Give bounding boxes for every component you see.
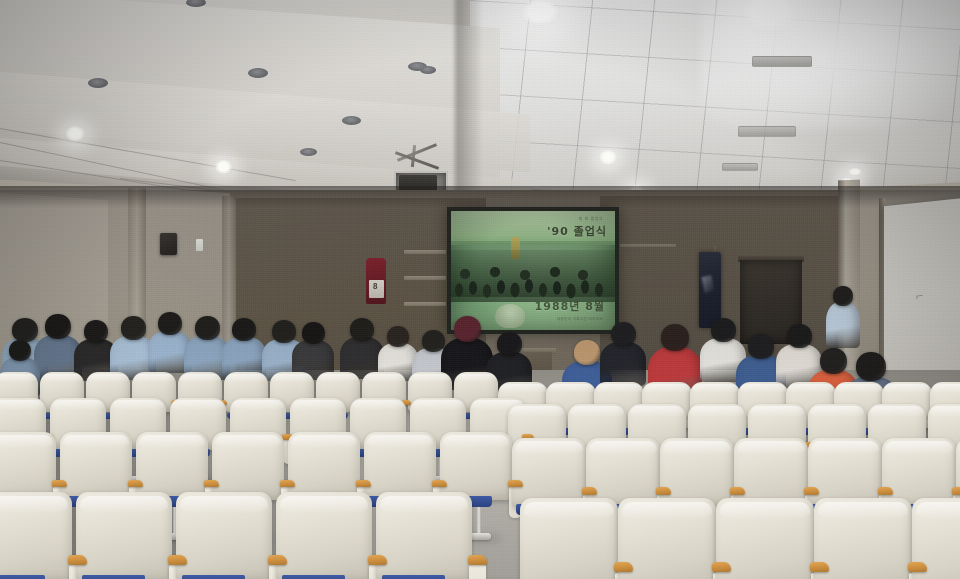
seat-back-highlight [811, 441, 879, 455]
ceiling-downlight-off [420, 66, 436, 74]
person-l2-head [45, 314, 71, 339]
person-c3-head [387, 326, 409, 347]
seat-back-highlight [548, 384, 594, 393]
wall-slot-trim [404, 276, 446, 280]
ceiling-tube-light [722, 163, 758, 171]
seat-back-highlight [367, 435, 433, 449]
seat-back-highlight [836, 384, 882, 393]
person-standing-torso [826, 302, 860, 348]
seat-back-highlight [930, 406, 960, 417]
seat-armrest[interactable] [508, 480, 523, 487]
seat-armrest[interactable] [432, 480, 447, 487]
auditorium-seat[interactable] [136, 432, 208, 500]
wall-slot-trim [404, 250, 446, 254]
ceiling-downlight-off [248, 68, 268, 78]
seat-back-highlight [215, 435, 281, 449]
seat-back-highlight [0, 400, 44, 410]
seat-back-highlight [0, 435, 53, 449]
seat-armrest[interactable] [952, 487, 960, 495]
seat-back-highlight [134, 374, 174, 382]
seat-armrest[interactable] [68, 555, 87, 565]
person-l7-head [232, 318, 256, 341]
seat-cushion[interactable] [0, 575, 45, 579]
seat-back-highlight [630, 406, 683, 417]
person-l3-head [84, 320, 108, 343]
seat-armrest[interactable] [268, 555, 287, 565]
person-r2-head [611, 322, 636, 346]
seat-back-highlight [352, 400, 404, 410]
seat-back-highlight [510, 406, 563, 417]
seat-back-highlight [663, 441, 731, 455]
exit-sign [196, 239, 203, 251]
person-standing-head [833, 286, 853, 306]
person-front-left-head [9, 340, 31, 361]
ceiling-downlight-off [342, 116, 361, 125]
person-c1-head [302, 322, 325, 344]
person-r2-torso [600, 342, 646, 386]
seat-back-highlight [180, 496, 268, 514]
person-r3-head [661, 324, 689, 351]
person-c6-head [497, 332, 522, 356]
seat-back-highlight [456, 374, 496, 382]
seat-armrest[interactable] [280, 480, 295, 487]
auditorium-seat[interactable] [276, 492, 372, 579]
auditorium-seat[interactable] [60, 432, 132, 500]
seat-back-highlight [139, 435, 205, 449]
auditorium-seat[interactable] [0, 492, 72, 579]
seat-back-highlight [232, 400, 284, 410]
seat-back-highlight [692, 384, 738, 393]
seat-back-highlight [870, 406, 923, 417]
person-r4-head [711, 318, 736, 342]
wall-slot-trim [620, 244, 676, 247]
seat-back-highlight [443, 435, 509, 449]
ceiling-downlight-on [598, 150, 618, 166]
seat-back-highlight [570, 406, 623, 417]
person-c2-head [350, 318, 374, 341]
whiteboard-marking: ⌐ [916, 288, 925, 305]
person-standing [826, 286, 860, 352]
seat-back-highlight [226, 374, 266, 382]
ceiling-downlight-off [88, 78, 108, 88]
seat-back-highlight [364, 374, 404, 382]
person-r2 [600, 322, 646, 390]
seat-back-highlight [515, 441, 583, 455]
seat-back-highlight [500, 384, 546, 393]
seat-armrest[interactable] [52, 480, 67, 487]
seat-back-highlight [884, 384, 930, 393]
projection-screen: 제 회 졸업식 '90 졸업식 1988년 8월 대한민국 기록사진 아카이브 [451, 211, 615, 330]
ceiling-tube-light [738, 126, 796, 137]
person-c5-head [454, 316, 481, 342]
seat-back-highlight [740, 384, 786, 393]
person-r6-head [787, 324, 812, 348]
seat-armrest[interactable] [168, 555, 187, 565]
seat-cushion[interactable] [282, 575, 345, 579]
ceiling-downlight-on [214, 160, 233, 175]
person-r8-head [856, 352, 886, 381]
jersey-number: 8 [373, 282, 377, 291]
seat-back-highlight [318, 374, 358, 382]
person-r5-head [748, 334, 774, 359]
auditorium-seat[interactable] [0, 432, 56, 500]
seat-armrest[interactable] [730, 487, 745, 495]
person-r1-head [574, 340, 600, 365]
seat-back-highlight [380, 496, 468, 514]
auditorium-seat[interactable] [176, 492, 272, 579]
ceiling-tube-light [752, 56, 812, 67]
seat-armrest[interactable] [878, 487, 893, 495]
seat-back-highlight [737, 441, 805, 455]
seat-back-highlight [818, 502, 908, 520]
auditorium-seat[interactable] [288, 432, 360, 500]
auditorium-seat[interactable] [212, 432, 284, 500]
seat-back-highlight [291, 435, 357, 449]
seat-side-panel [469, 565, 486, 579]
seat-back-highlight [596, 384, 642, 393]
auditorium-seat[interactable] [76, 492, 172, 579]
ceiling-downlight-on [520, 0, 560, 26]
seat-back-highlight [0, 496, 68, 514]
seat-armrest[interactable] [204, 480, 219, 487]
seat-back-highlight [644, 384, 690, 393]
ceiling-downlight-on [64, 126, 86, 143]
ceiling-light-glow [700, 0, 960, 130]
seat-back-highlight [80, 496, 168, 514]
seat-armrest[interactable] [908, 562, 927, 572]
seat-back-highlight [88, 374, 128, 382]
seat-cushion[interactable] [382, 575, 445, 579]
seat-armrest[interactable] [656, 487, 671, 495]
seat-back-highlight [810, 406, 863, 417]
seat-back-highlight [410, 374, 450, 382]
seat-back-highlight [788, 384, 834, 393]
seat-armrest[interactable] [712, 562, 731, 572]
ceiling-downlight-on [848, 168, 862, 176]
seat-armrest[interactable] [804, 487, 819, 495]
person-l6-head [195, 316, 220, 340]
seat-back-highlight [690, 406, 743, 417]
seat-armrest[interactable] [128, 480, 143, 487]
seat-armrest[interactable] [368, 555, 387, 565]
person-l4-head [121, 316, 146, 340]
auditorium-seat[interactable] [376, 492, 472, 579]
seat-back-highlight [622, 502, 712, 520]
seat-back-highlight [280, 496, 368, 514]
seat-back-highlight [0, 374, 36, 382]
auditorium-seat[interactable] [440, 432, 512, 500]
seat-back-highlight [172, 400, 224, 410]
seat-back-highlight [42, 374, 82, 382]
wall-speaker [160, 233, 177, 255]
wall-slot-trim [404, 302, 446, 306]
seat-cushion[interactable] [182, 575, 245, 579]
auditorium-seat[interactable] [364, 432, 436, 500]
lecture-hall-photo: 8 ⌐ 제 회 졸업식 '90 졸업식 1988년 8월 대한민국 기록사진 아… [0, 0, 960, 579]
wall-top-shadow [0, 186, 960, 208]
seat-cushion[interactable] [82, 575, 145, 579]
slide-vignette [451, 211, 615, 330]
seat-back-highlight [412, 400, 464, 410]
seat-armrest[interactable] [810, 562, 829, 572]
seat-back-highlight [112, 400, 164, 410]
seat-back-highlight [63, 435, 129, 449]
seat-back-highlight [720, 502, 810, 520]
person-l5-head [158, 312, 182, 335]
seat-armrest[interactable] [582, 487, 597, 495]
seat-back-highlight [180, 374, 220, 382]
seat-armrest[interactable] [468, 555, 487, 565]
seat-back-highlight [292, 400, 344, 410]
seat-back-highlight [272, 374, 312, 382]
seat-back-highlight [52, 400, 104, 410]
seat-back-highlight [885, 441, 953, 455]
seat-back-highlight [932, 384, 960, 393]
seat-armrest[interactable] [356, 480, 371, 487]
seat-back-highlight [524, 502, 614, 520]
auditorium-seat[interactable] [520, 498, 618, 579]
seat-back-highlight [750, 406, 803, 417]
seat-back-highlight [589, 441, 657, 455]
ceiling-downlight-off [300, 148, 317, 156]
seat-armrest[interactable] [614, 562, 633, 572]
